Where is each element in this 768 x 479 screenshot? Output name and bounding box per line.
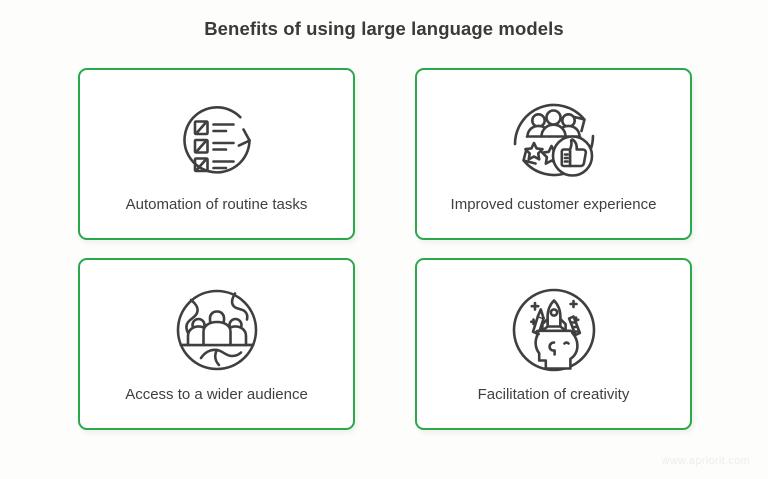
benefit-card-label: Automation of routine tasks — [80, 196, 353, 214]
creative-mind-icon — [502, 278, 606, 382]
page-title: Benefits of using large language models — [0, 18, 768, 40]
benefit-card-automation[interactable]: Automation of routine tasks — [78, 68, 355, 240]
benefit-card-creativity[interactable]: Facilitation of creativity — [415, 258, 692, 430]
benefit-card-label: Improved customer experience — [417, 196, 690, 214]
benefit-card-wider-audience[interactable]: Access to a wider audience — [78, 258, 355, 430]
benefits-card-grid: Automation of routine tasks — [78, 68, 692, 428]
globe-audience-icon — [165, 278, 269, 382]
customer-satisfaction-icon — [502, 88, 606, 192]
benefit-card-label: Facilitation of creativity — [417, 386, 690, 404]
infographic-canvas: Benefits of using large language models — [0, 0, 768, 479]
checklist-circular-arrow-icon — [165, 88, 269, 192]
watermark: www.apriorit.com — [661, 455, 750, 467]
benefit-card-customer-experience[interactable]: Improved customer experience — [415, 68, 692, 240]
benefit-card-label: Access to a wider audience — [80, 386, 353, 404]
